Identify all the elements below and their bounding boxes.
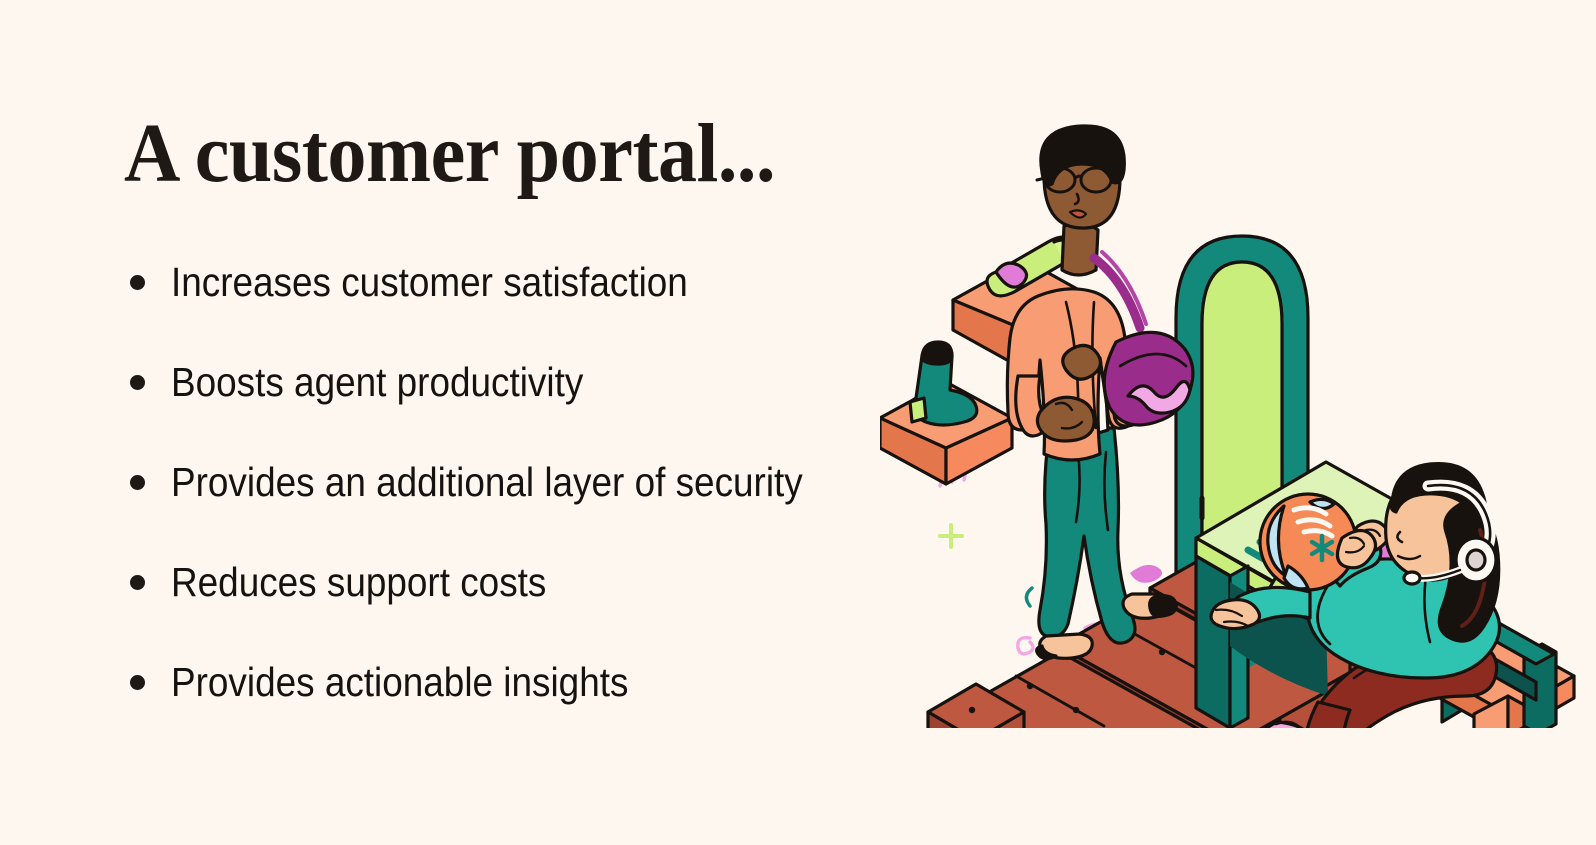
bullet-dot-icon <box>130 475 145 490</box>
benefits-list: Increases customer satisfaction Boosts a… <box>124 260 914 760</box>
list-item-label: Provides an additional layer of security <box>171 460 803 504</box>
list-item: Provides actionable insights <box>124 660 914 760</box>
list-item: Reduces support costs <box>124 560 914 660</box>
bullet-dot-icon <box>130 275 145 290</box>
list-item-label: Increases customer satisfaction <box>171 260 688 304</box>
list-item: Provides an additional layer of security <box>124 460 914 560</box>
retail-store-illustration <box>880 118 1590 728</box>
list-item-label: Boosts agent productivity <box>171 360 583 404</box>
list-item: Boosts agent productivity <box>124 360 914 460</box>
teal-boot-icon <box>910 342 977 425</box>
bullet-dot-icon <box>130 675 145 690</box>
slide-canvas: A customer portal... Increases customer … <box>0 0 1596 845</box>
boot-display-pedestal <box>880 342 1012 484</box>
bullet-dot-icon <box>130 375 145 390</box>
bullet-dot-icon <box>130 575 145 590</box>
text-column: A customer portal... Increases customer … <box>124 112 914 196</box>
list-item-label: Provides actionable insights <box>171 660 628 704</box>
page-title: A customer portal... <box>124 112 859 196</box>
list-item-label: Reduces support costs <box>171 560 546 604</box>
list-item: Increases customer satisfaction <box>124 260 914 360</box>
